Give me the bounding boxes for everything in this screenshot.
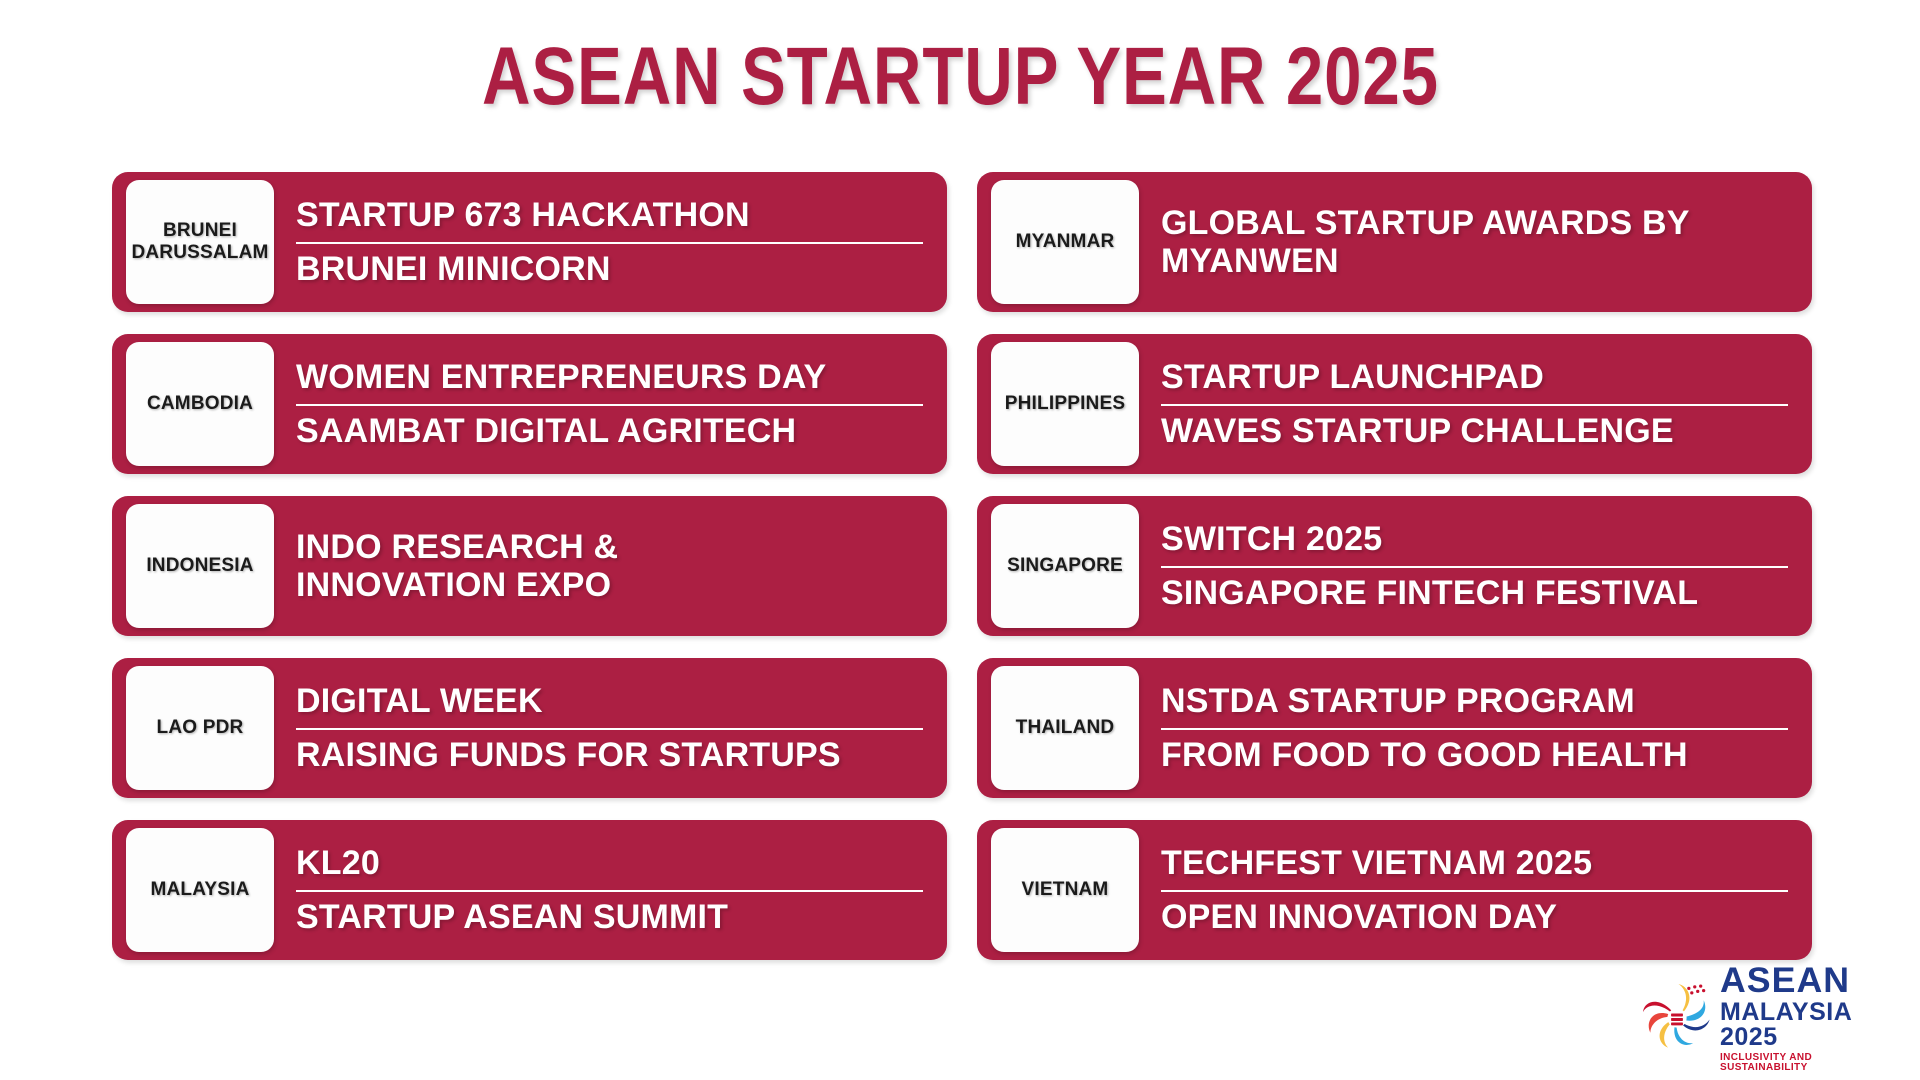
country-card[interactable]: THAILANDNSTDA STARTUP PROGRAMFROM FOOD T… (977, 658, 1812, 798)
country-badge: MALAYSIA (126, 828, 274, 952)
event-name: STARTUP LAUNCHPAD (1161, 355, 1788, 399)
event-list: KL20STARTUP ASEAN SUMMIT (274, 841, 929, 938)
event-list: STARTUP 673 HACKATHONBRUNEI MINICORN (274, 193, 929, 290)
logo-text-block: ASEAN MALAYSIA 2025 INCLUSIVITY AND SUST… (1720, 963, 1890, 1073)
logo-asean-text: ASEAN (1720, 963, 1893, 998)
event-list: INDO RESEARCH & INNOVATION EXPO (274, 525, 929, 607)
event-name: KL20 (296, 841, 923, 885)
country-name: SINGAPORE (1007, 555, 1123, 577)
country-badge: PHILIPPINES (991, 342, 1139, 466)
event-name: FROM FOOD TO GOOD HEALTH (1161, 728, 1788, 777)
country-card[interactable]: LAO PDRDIGITAL WEEKRAISING FUNDS FOR STA… (112, 658, 947, 798)
country-name: THAILAND (1016, 717, 1115, 739)
event-name: WOMEN ENTREPRENEURS DAY (296, 355, 923, 399)
event-name: GLOBAL STARTUP AWARDS BY MYANWEN (1161, 201, 1788, 283)
event-name: NSTDA STARTUP PROGRAM (1161, 679, 1788, 723)
event-list: DIGITAL WEEKRAISING FUNDS FOR STARTUPS (274, 679, 929, 776)
country-badge: MYANMAR (991, 180, 1139, 304)
country-card[interactable]: SINGAPORESWITCH 2025SINGAPORE FINTECH FE… (977, 496, 1812, 636)
country-name: MALAYSIA (150, 879, 249, 901)
event-name: SINGAPORE FINTECH FESTIVAL (1161, 566, 1788, 615)
country-card[interactable]: BRUNEI DARUSSALAMSTARTUP 673 HACKATHONBR… (112, 172, 947, 312)
country-badge: LAO PDR (126, 666, 274, 790)
event-list: WOMEN ENTREPRENEURS DAYSAAMBAT DIGITAL A… (274, 355, 929, 452)
event-name: INDO RESEARCH & INNOVATION EXPO (296, 525, 923, 607)
country-badge: BRUNEI DARUSSALAM (126, 180, 274, 304)
left-column: BRUNEI DARUSSALAMSTARTUP 673 HACKATHONBR… (112, 172, 947, 960)
country-name: VIETNAM (1022, 879, 1109, 901)
country-name: MYANMAR (1016, 231, 1115, 253)
logo-tagline-text: INCLUSIVITY AND SUSTAINABILITY (1720, 1053, 1890, 1073)
country-cards-grid: BRUNEI DARUSSALAMSTARTUP 673 HACKATHONBR… (112, 172, 1812, 960)
country-name: BRUNEI DARUSSALAM (131, 220, 268, 265)
event-name: STARTUP ASEAN SUMMIT (296, 890, 923, 939)
country-card[interactable]: INDONESIAINDO RESEARCH & INNOVATION EXPO (112, 496, 947, 636)
logo-malaysia-text: MALAYSIA 2025 (1720, 1000, 1890, 1050)
country-badge: THAILAND (991, 666, 1139, 790)
country-badge: VIETNAM (991, 828, 1139, 952)
event-list: NSTDA STARTUP PROGRAMFROM FOOD TO GOOD H… (1139, 679, 1794, 776)
country-name: LAO PDR (157, 717, 244, 739)
event-name: OPEN INNOVATION DAY (1161, 890, 1788, 939)
header: ASEAN STARTUP YEAR 2025 (0, 0, 1920, 118)
event-name: STARTUP 673 HACKATHON (296, 193, 923, 237)
event-name: DIGITAL WEEK (296, 679, 923, 723)
country-card[interactable]: CAMBODIAWOMEN ENTREPRENEURS DAYSAAMBAT D… (112, 334, 947, 474)
event-list: STARTUP LAUNCHPADWAVES STARTUP CHALLENGE (1139, 355, 1794, 452)
country-card[interactable]: VIETNAMTECHFEST VIETNAM 2025OPEN INNOVAT… (977, 820, 1812, 960)
event-list: GLOBAL STARTUP AWARDS BY MYANWEN (1139, 201, 1794, 283)
country-badge: CAMBODIA (126, 342, 274, 466)
country-name: INDONESIA (146, 555, 253, 577)
event-name: TECHFEST VIETNAM 2025 (1161, 841, 1788, 885)
country-card[interactable]: MYANMARGLOBAL STARTUP AWARDS BY MYANWEN (977, 172, 1812, 312)
country-name: CAMBODIA (147, 393, 253, 415)
country-name: PHILIPPINES (1005, 393, 1125, 415)
event-name: BRUNEI MINICORN (296, 242, 923, 291)
event-name: WAVES STARTUP CHALLENGE (1161, 404, 1788, 453)
page-title: ASEAN STARTUP YEAR 2025 (482, 36, 1439, 118)
event-list: TECHFEST VIETNAM 2025OPEN INNOVATION DAY (1139, 841, 1794, 938)
event-name: RAISING FUNDS FOR STARTUPS (296, 728, 923, 777)
event-name: SWITCH 2025 (1161, 517, 1788, 561)
country-card[interactable]: PHILIPPINESSTARTUP LAUNCHPADWAVES STARTU… (977, 334, 1812, 474)
asean-swirl-icon (1640, 981, 1714, 1055)
event-list: SWITCH 2025SINGAPORE FINTECH FESTIVAL (1139, 517, 1794, 614)
event-name: SAAMBAT DIGITAL AGRITECH (296, 404, 923, 453)
country-badge: SINGAPORE (991, 504, 1139, 628)
country-badge: INDONESIA (126, 504, 274, 628)
country-card[interactable]: MALAYSIAKL20STARTUP ASEAN SUMMIT (112, 820, 947, 960)
right-column: MYANMARGLOBAL STARTUP AWARDS BY MYANWENP… (977, 172, 1812, 960)
asean-malaysia-2025-logo: ASEAN MALAYSIA 2025 INCLUSIVITY AND SUST… (1640, 968, 1890, 1068)
